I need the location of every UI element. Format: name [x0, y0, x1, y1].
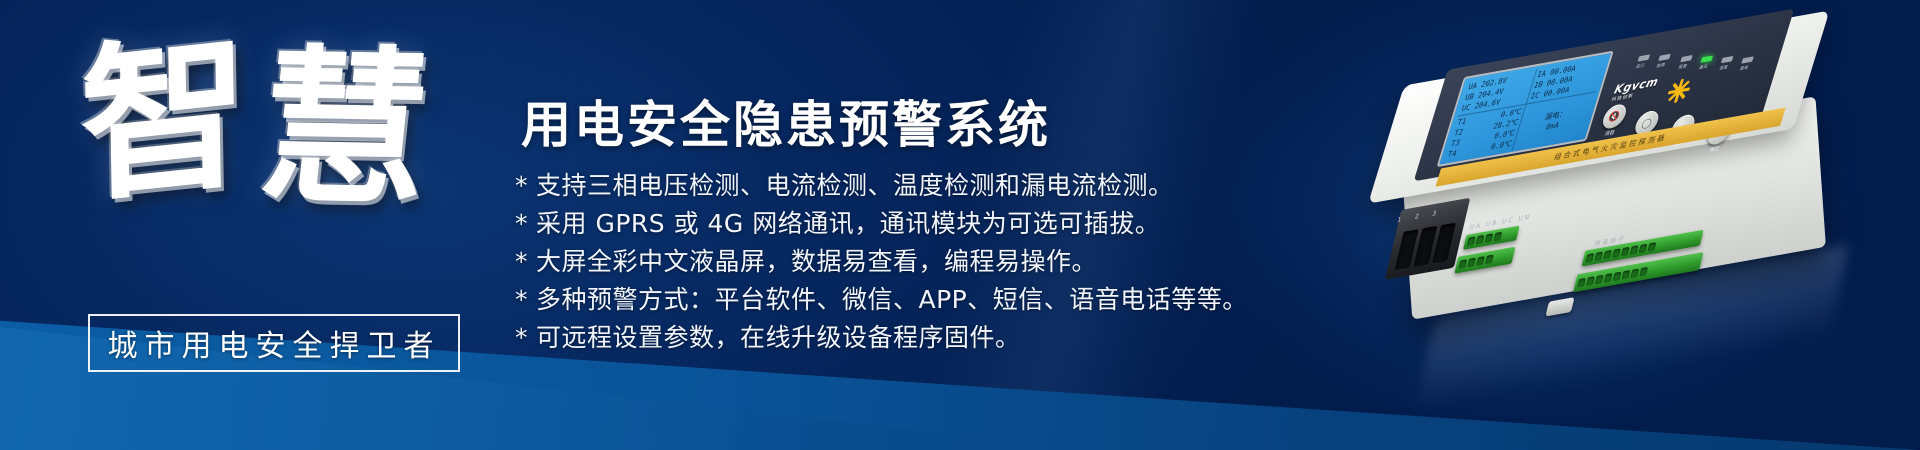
lcd-leakage-value: 0mA [1544, 120, 1560, 133]
led-label-leakage: 漏电 [1739, 64, 1749, 72]
bullet-marker-icon: * [515, 167, 528, 205]
copy-block: 用电安全隐患预警系统 *支持三相电压检测、电流检测、温度检测和漏电流检测。 *采… [515, 96, 1335, 357]
list-item: *支持三相电压检测、电流检测、温度检测和漏电流检测。 [515, 167, 1335, 205]
led-fault [1658, 54, 1670, 61]
led-alarm [1680, 55, 1692, 62]
calligraphy-char-zhi: 智 [79, 26, 257, 211]
bullet-marker-icon: * [515, 205, 528, 243]
list-item: *采用 GPRS 或 4G 网络通讯，通讯模块为可选可插拔。 [515, 205, 1335, 243]
bullet-marker-icon: * [515, 281, 528, 319]
lcd-temp-label-t4: T4 [1446, 148, 1458, 160]
product-image: UA 202.8V UB 204.4V UC 204.6V IA 00.00A … [1345, 10, 1920, 440]
list-item: *大屏全彩中文液晶屏，数据易查看，编程易操作。 [515, 243, 1335, 281]
led-label-comm: 通讯 [1698, 63, 1708, 71]
list-item: *可远程设置参数，在线升级设备程序固件。 [515, 319, 1335, 357]
calligraphy-logo: 智慧 [70, 17, 505, 301]
mute-icon: 🔇 [1607, 110, 1622, 124]
lcd-temperature-group: T10.0℃ T228.2℃ T30.0℃ T40.0℃ [1444, 105, 1527, 162]
led-comm [1701, 55, 1713, 62]
list-item-label: 支持三相电压检测、电流检测、温度检测和漏电流检测。 [536, 171, 1174, 200]
page-title: 用电安全隐患预警系统 [521, 96, 1335, 155]
list-item: *多种预警方式：平台软件、微信、APP、短信、语音电话等等。 [515, 281, 1335, 319]
led-temp [1721, 56, 1733, 63]
led-label-fault: 故障 [1656, 62, 1666, 70]
list-item-label: 多种预警方式：平台软件、微信、APP、短信、语音电话等等。 [536, 285, 1248, 314]
bullet-marker-icon: * [515, 243, 528, 281]
list-item-label: 可远程设置参数，在线升级设备程序固件。 [536, 323, 1021, 352]
led-label-temp: 温度 [1718, 64, 1728, 72]
list-item-label: 大屏全彩中文液晶屏，数据易查看，编程易操作。 [536, 247, 1097, 276]
list-item-label: 采用 GPRS 或 4G 网络通讯，通讯模块为可选可插拔。 [536, 209, 1160, 238]
reset-icon: ◯ [1640, 116, 1654, 130]
calligraphy-char-hui: 慧 [252, 42, 443, 213]
slogan-badge: 城市用电安全捍卫者 [88, 314, 460, 372]
led-run [1638, 54, 1650, 61]
feature-list: *支持三相电压检测、电流检测、温度检测和漏电流检测。 *采用 GPRS 或 4G… [515, 167, 1335, 357]
bullet-marker-icon: * [515, 319, 528, 357]
led-leakage [1741, 56, 1753, 63]
slogan-badge-label: 城市用电安全捍卫者 [108, 321, 441, 365]
promo-banner: 智慧 城市用电安全捍卫者 用电安全隐患预警系统 *支持三相电压检测、电流检测、温… [0, 0, 1920, 450]
led-label-run: 运行 [1635, 62, 1645, 70]
led-label-alarm: 报警 [1678, 63, 1688, 71]
